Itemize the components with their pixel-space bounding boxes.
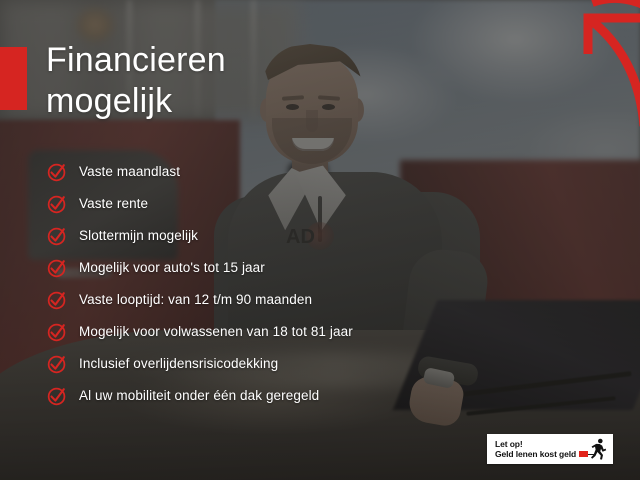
warning-line-1: Let op! — [495, 439, 588, 450]
credit-warning-badge: Let op! Geld lenen kost geld — [487, 434, 613, 464]
check-circle-icon — [46, 321, 68, 343]
check-circle-icon — [46, 193, 68, 215]
list-item: Vaste looptijd: van 12 t/m 90 maanden — [46, 284, 606, 316]
check-circle-icon — [46, 385, 68, 407]
warning-line-2: Geld lenen kost geld — [495, 449, 576, 460]
benefit-label: Al uw mobiliteit onder één dak geregeld — [79, 388, 319, 404]
check-circle-icon — [46, 225, 68, 247]
accent-red-block — [0, 47, 27, 110]
walking-man-icon — [590, 438, 607, 460]
benefits-list: Vaste maandlast Vaste rente Slottermijn … — [46, 156, 606, 412]
rotate-arrow-mark — [548, 0, 640, 132]
page-title-line-2: mogelijk — [46, 81, 326, 122]
check-circle-icon — [46, 353, 68, 375]
benefit-label: Mogelijk voor auto's tot 15 jaar — [79, 260, 265, 276]
list-item: Mogelijk voor auto's tot 15 jaar — [46, 252, 606, 284]
warning-text: Let op! Geld lenen kost geld — [495, 439, 588, 460]
warning-marker-icon — [579, 451, 588, 457]
list-item: Vaste maandlast — [46, 156, 606, 188]
check-circle-icon — [46, 257, 68, 279]
check-circle-icon — [46, 161, 68, 183]
benefit-label: Vaste rente — [79, 196, 148, 212]
banner-content: Financieren mogelijk Vaste maandlast Vas… — [0, 0, 640, 480]
warning-line-2-row: Geld lenen kost geld — [495, 449, 588, 460]
benefit-label: Vaste maandlast — [79, 164, 180, 180]
page-title-line-1: Financieren — [46, 41, 226, 79]
check-circle-icon — [46, 289, 68, 311]
benefit-label: Inclusief overlijdensrisicodekking — [79, 356, 278, 372]
list-item: Inclusief overlijdensrisicodekking — [46, 348, 606, 380]
benefit-label: Mogelijk voor volwassenen van 18 tot 81 … — [79, 324, 353, 340]
financing-promo-banner: AD Financieren mogelijk Vaste maandlast — [0, 0, 640, 480]
benefit-label: Slottermijn mogelijk — [79, 228, 198, 244]
benefit-label: Vaste looptijd: van 12 t/m 90 maanden — [79, 292, 312, 308]
list-item: Vaste rente — [46, 188, 606, 220]
list-item: Al uw mobiliteit onder één dak geregeld — [46, 380, 606, 412]
page-title: Financieren mogelijk — [46, 40, 326, 122]
list-item: Mogelijk voor volwassenen van 18 tot 81 … — [46, 316, 606, 348]
list-item: Slottermijn mogelijk — [46, 220, 606, 252]
